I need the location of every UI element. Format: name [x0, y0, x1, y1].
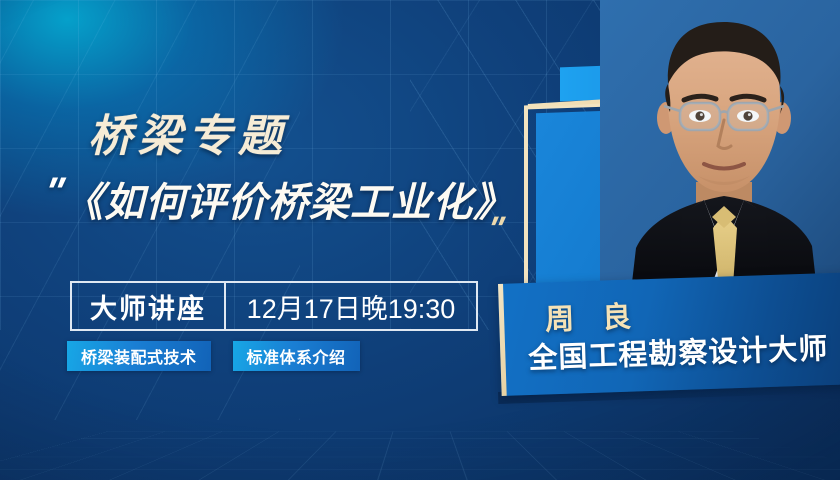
- subtitle: 《如何评价桥梁工业化》: [63, 170, 514, 228]
- poster-canvas: 桥梁专题 "《如何评价桥梁工业化》 " 大师讲座 12月17日晚19:30 桥梁…: [0, 0, 840, 480]
- speaker-title: 全国工程勘察设计大师: [528, 325, 829, 377]
- topic-tag-list: 桥梁装配式技术 标准体系介绍: [67, 341, 360, 371]
- lecture-info-bar: 大师讲座 12月17日晚19:30: [70, 281, 478, 331]
- topic-tag[interactable]: 标准体系介绍: [233, 341, 360, 371]
- page-title: 桥梁专题: [88, 100, 288, 164]
- topic-tag[interactable]: 桥梁装配式技术: [67, 341, 211, 371]
- lecture-label: 大师讲座: [72, 283, 226, 329]
- speaker-photo: [600, 0, 840, 300]
- subtitle-group: "《如何评价桥梁工业化》: [44, 170, 514, 228]
- speaker-nameplate: 周 良 全国工程勘察设计大师: [498, 272, 840, 396]
- quote-open-mark: ": [40, 172, 65, 212]
- lecture-datetime: 12月17日晚19:30: [226, 283, 476, 329]
